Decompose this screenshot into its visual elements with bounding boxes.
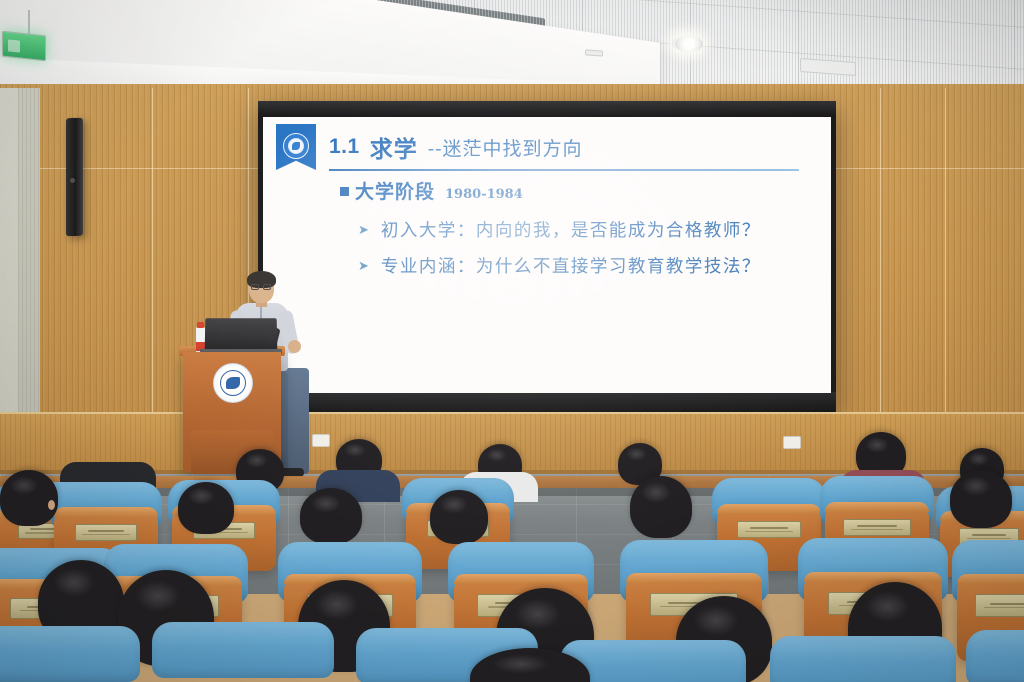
seat-cushion — [770, 636, 956, 682]
exit-sign-rod — [28, 10, 30, 36]
seat-back-edge — [454, 574, 588, 584]
slide-level1-years: 1980-1984 — [445, 187, 523, 202]
slide-section-number: 1.1 — [329, 135, 360, 159]
slide-level1-bullet-icon — [340, 187, 349, 196]
exit-sign-glyph-icon — [8, 39, 20, 52]
lecture-hall-photo: 1.1 求学 --迷茫中找到方向 大学阶段 1980-1984 ➤ 初入大学：内… — [0, 0, 1024, 682]
presenter-glasses-icon — [263, 284, 271, 290]
slide-bullet-row: ➤ 初入大学：内向的我，是否能成为合格教师？ — [358, 217, 761, 242]
slide-title: 1.1 求学 --迷茫中找到方向 — [329, 127, 809, 167]
auditorium-seat[interactable] — [152, 622, 334, 682]
seat-back-edge — [825, 502, 930, 512]
audience-head — [430, 490, 488, 544]
wall-speaker — [66, 118, 83, 236]
auditorium-seat[interactable] — [966, 630, 1024, 682]
wall-outlet — [783, 436, 801, 449]
presentation-slide: 1.1 求学 --迷茫中找到方向 大学阶段 1980-1984 ➤ 初入大学：内… — [263, 117, 831, 393]
slide-bullet-arrow-icon: ➤ — [358, 258, 369, 274]
wall-speaker-knob-icon — [70, 178, 75, 183]
seat-nameplate — [975, 594, 1024, 618]
seat-back-edge — [957, 574, 1024, 584]
slide-level1-text: 大学阶段 — [355, 177, 435, 204]
seat-back-edge — [626, 573, 762, 583]
seat-nameplate — [737, 521, 801, 538]
slide-bullet-arrow-icon: ➤ — [358, 222, 369, 238]
university-seal-mark-icon — [292, 142, 300, 150]
seat-back-edge — [717, 504, 822, 514]
slide-title-rule — [329, 169, 799, 171]
seat-cushion — [0, 626, 140, 682]
audience-head — [300, 488, 362, 544]
slide-title-sub: --迷茫中找到方向 — [428, 134, 583, 161]
laptop-screen — [205, 318, 278, 352]
downlight-icon — [675, 36, 703, 52]
seat-nameplate — [75, 524, 138, 541]
audience-head — [178, 482, 234, 534]
slide-level1-line: 大学阶段 1980-1984 — [355, 177, 523, 204]
water-bottle-cap — [197, 322, 204, 328]
auditorium-seat[interactable] — [0, 626, 140, 682]
wall-outlet — [312, 434, 330, 447]
audience-head — [0, 470, 58, 526]
screen-top-bezel — [258, 101, 836, 117]
audience-head — [950, 470, 1012, 528]
seat-back-edge — [54, 507, 157, 517]
presenter-hand — [288, 340, 301, 353]
ceiling-vent — [585, 49, 603, 56]
slide-bullet-row: ➤ 专业内涵：为什么不直接学习教育教学技法？ — [358, 253, 761, 278]
seat-nameplate — [843, 519, 911, 536]
seat-cushion — [152, 622, 334, 678]
slide-title-main: 求学 — [370, 130, 418, 164]
audience-ear — [48, 500, 55, 510]
seat-cushion — [966, 630, 1024, 682]
auditorium-seat[interactable] — [770, 636, 956, 682]
podium-seal-mark-icon — [226, 377, 240, 389]
slide-bullet-text: 初入大学：内向的我，是否能成为合格教师？ — [381, 217, 761, 242]
presenter-glasses-icon — [251, 284, 259, 290]
screen-bottom-bezel — [258, 392, 836, 414]
audience-head — [630, 476, 692, 538]
slide-bullet-text: 专业内涵：为什么不直接学习教育教学技法？ — [381, 253, 761, 278]
seat-back-edge — [804, 572, 942, 582]
